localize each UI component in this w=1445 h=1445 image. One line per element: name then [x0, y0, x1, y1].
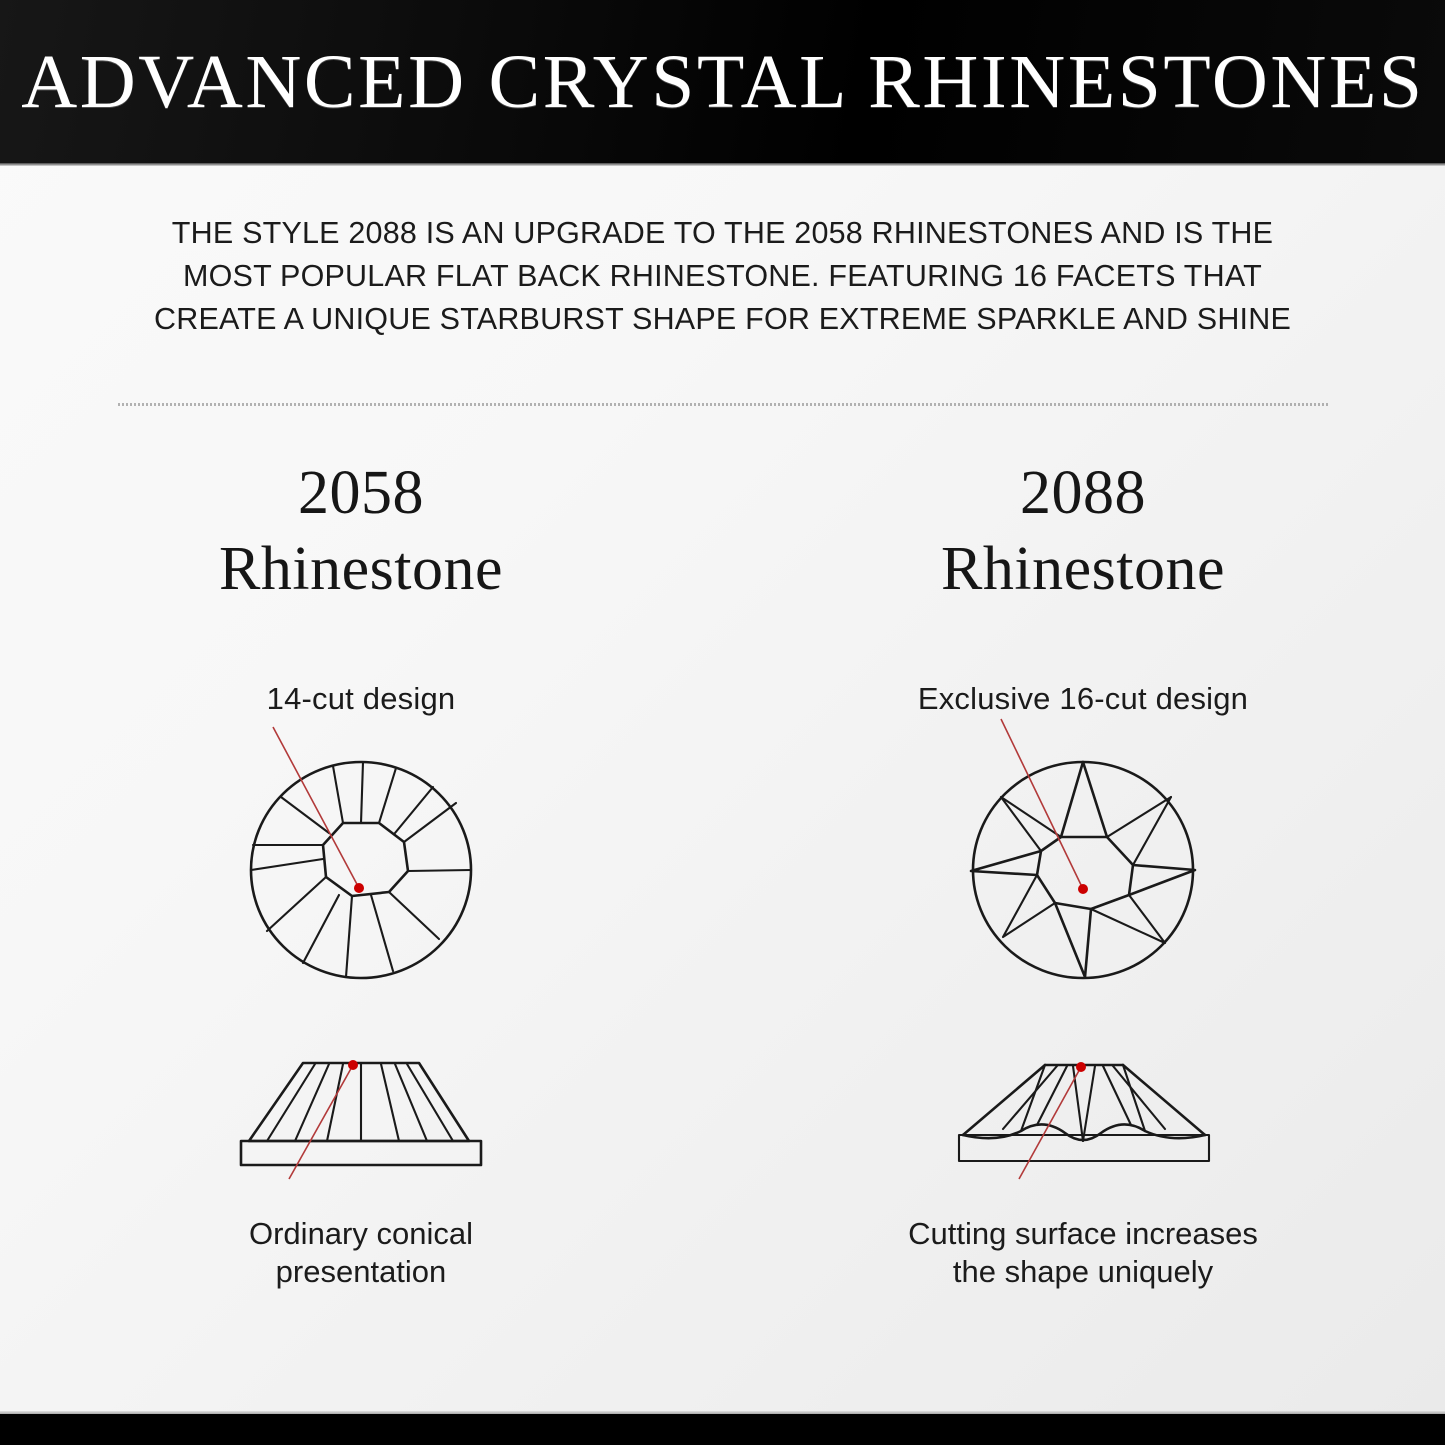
intro-line-1: THE STYLE 2088 IS AN UPGRADE TO THE 2058… [110, 212, 1335, 255]
intro-line-3: CREATE A UNIQUE STARBURST SHAPE FOR EXTR… [110, 298, 1335, 341]
column-2058: 2058 Rhinestone 14-cut design [0, 455, 722, 1291]
rhinestone-2058-side-view-diagram [211, 1039, 511, 1179]
page-title: ADVANCED CRYSTAL RHINESTONES [21, 44, 1424, 120]
caption-2088-line-2: the shape uniquely [908, 1253, 1258, 1291]
rhinestone-2088-top-view-diagram [933, 725, 1233, 987]
column-2088-number: 2088 [941, 455, 1225, 531]
marker-dot [1078, 884, 1088, 894]
column-2088-title: 2088 Rhinestone [941, 455, 1225, 607]
column-2058-number: 2058 [219, 455, 503, 531]
column-2058-word: Rhinestone [219, 531, 503, 607]
column-2088-word: Rhinestone [941, 531, 1225, 607]
header-banner: ADVANCED CRYSTAL RHINESTONES [0, 0, 1445, 163]
top-view-2058-outline [251, 762, 471, 978]
caption-2088: Cutting surface increases the shape uniq… [908, 1215, 1258, 1291]
caption-2058-line-2: presentation [249, 1253, 473, 1291]
intro-paragraph: THE STYLE 2088 IS AN UPGRADE TO THE 2058… [110, 212, 1335, 341]
marker-dot [1076, 1062, 1086, 1072]
side-view-2058-outline [241, 1063, 481, 1165]
header-underline-divider [0, 163, 1445, 166]
marker-dot [354, 883, 364, 893]
marker-dot [348, 1060, 358, 1070]
column-2088: 2088 Rhinestone Exclusive 16-cut design [722, 455, 1444, 1291]
caption-2088-line-1: Cutting surface increases [908, 1215, 1258, 1253]
leader-line-2058-top [273, 727, 364, 893]
caption-2058-line-1: Ordinary conical [249, 1215, 473, 1253]
column-2058-title: 2058 Rhinestone [219, 455, 503, 607]
footer-bar [0, 1414, 1445, 1445]
dotted-divider [118, 403, 1330, 406]
rhinestone-2088-side-view-diagram [933, 1039, 1233, 1179]
product-infographic-page: ADVANCED CRYSTAL RHINESTONES THE STYLE 2… [0, 0, 1445, 1445]
top-view-2088-outline [971, 762, 1195, 978]
side-view-2088-outline [959, 1065, 1209, 1161]
intro-line-2: MOST POPULAR FLAT BACK RHINESTONE. FEATU… [110, 255, 1335, 298]
rhinestone-2058-top-view-diagram [211, 725, 511, 987]
caption-2058: Ordinary conical presentation [249, 1215, 473, 1291]
cut-label-2088: Exclusive 16-cut design [918, 681, 1248, 717]
cut-label-2058: 14-cut design [267, 681, 456, 717]
comparison-columns: 2058 Rhinestone 14-cut design [0, 455, 1445, 1291]
